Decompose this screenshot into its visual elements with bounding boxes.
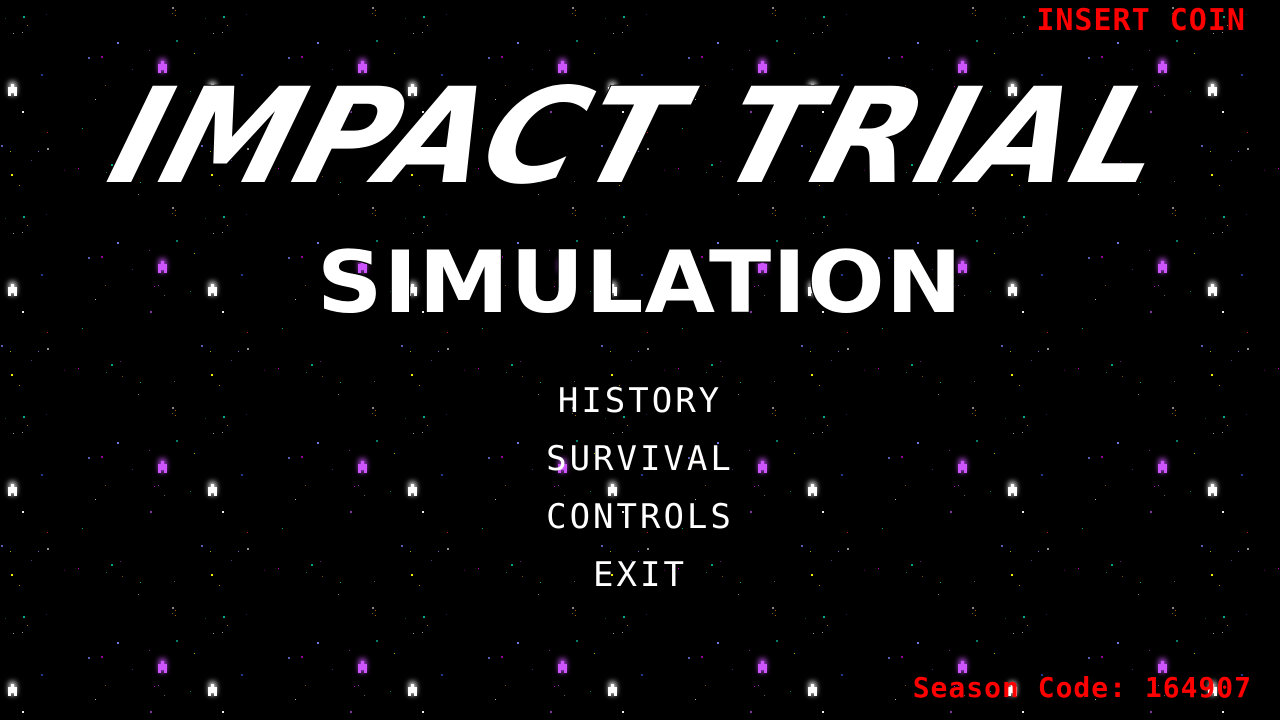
star-pixel bbox=[811, 684, 814, 693]
star-pixel bbox=[149, 650, 150, 651]
star-pixel bbox=[13, 233, 14, 234]
star-pixel bbox=[776, 40, 778, 42]
star-pixel bbox=[576, 640, 578, 642]
star-pixel bbox=[311, 364, 313, 366]
star-pixel bbox=[95, 699, 96, 700]
star-pixel bbox=[847, 348, 849, 350]
star-pixel bbox=[1031, 360, 1032, 361]
star-pixel bbox=[572, 13, 573, 14]
star-pixel bbox=[27, 225, 28, 226]
star-pixel bbox=[231, 360, 232, 361]
star-pixel bbox=[175, 15, 176, 16]
star-pixel bbox=[805, 18, 806, 19]
star-pixel bbox=[975, 615, 976, 616]
star-pixel bbox=[1013, 233, 1014, 234]
star-pixel bbox=[372, 613, 373, 614]
star-pixel bbox=[361, 661, 364, 670]
star-pixel bbox=[88, 657, 90, 659]
star-pixel bbox=[705, 685, 706, 686]
star-pixel bbox=[775, 615, 776, 616]
star-pixel bbox=[164, 695, 165, 696]
star-pixel bbox=[175, 10, 176, 11]
star-pixel bbox=[413, 33, 414, 34]
star-pixel bbox=[622, 32, 623, 33]
star-pixel bbox=[1227, 625, 1228, 626]
star-pixel bbox=[222, 32, 223, 33]
sub-title: SIMULATION bbox=[0, 236, 1280, 336]
star-pixel bbox=[22, 632, 23, 633]
star-pixel bbox=[1132, 669, 1133, 670]
star-pixel bbox=[1023, 616, 1025, 618]
season-code-label: Season Code: 164907 bbox=[913, 672, 1252, 704]
star-pixel bbox=[647, 348, 649, 350]
star-pixel bbox=[972, 7, 974, 9]
star-pixel bbox=[175, 615, 176, 616]
star-pixel bbox=[754, 686, 755, 687]
star-pixel bbox=[561, 661, 564, 670]
star-pixel bbox=[623, 16, 625, 18]
star-pixel bbox=[317, 642, 319, 644]
star-pixel bbox=[227, 25, 228, 26]
star-pixel bbox=[349, 650, 350, 651]
star-pixel bbox=[1022, 632, 1023, 633]
star-pixel bbox=[776, 640, 778, 642]
star-pixel bbox=[901, 56, 903, 58]
star-pixel bbox=[238, 351, 239, 352]
star-pixel bbox=[975, 10, 976, 11]
star-pixel bbox=[775, 610, 776, 611]
star-pixel bbox=[605, 18, 606, 19]
star-pixel bbox=[638, 351, 639, 352]
star-pixel bbox=[332, 669, 333, 670]
star-pixel bbox=[375, 610, 376, 611]
star-pixel bbox=[1222, 232, 1223, 233]
star-pixel bbox=[88, 57, 90, 59]
star-pixel bbox=[622, 632, 623, 633]
star-pixel bbox=[22, 711, 24, 713]
star-pixel bbox=[38, 351, 39, 352]
star-pixel bbox=[223, 616, 225, 618]
star-pixel bbox=[749, 50, 750, 51]
star-pixel bbox=[627, 225, 628, 226]
star-pixel bbox=[549, 650, 550, 651]
star-pixel bbox=[501, 656, 503, 658]
star-pixel bbox=[305, 685, 306, 686]
star-pixel bbox=[375, 615, 376, 616]
star-pixel bbox=[172, 7, 174, 9]
star-pixel bbox=[1022, 232, 1023, 233]
star-pixel bbox=[1010, 351, 1011, 352]
star-pixel bbox=[427, 25, 428, 26]
star-pixel bbox=[422, 32, 423, 33]
star-pixel bbox=[1172, 613, 1173, 614]
star-pixel bbox=[427, 625, 428, 626]
star-pixel bbox=[46, 614, 47, 615]
star-pixel bbox=[1172, 607, 1174, 609]
star-pixel bbox=[13, 33, 14, 34]
star-pixel bbox=[590, 691, 591, 692]
star-pixel bbox=[27, 625, 28, 626]
star-pixel bbox=[172, 13, 173, 14]
star-pixel bbox=[194, 53, 195, 54]
star-pixel bbox=[688, 657, 690, 659]
star-pixel bbox=[1001, 345, 1003, 347]
star-pixel bbox=[222, 711, 224, 713]
star-pixel bbox=[790, 691, 791, 692]
star-pixel bbox=[511, 364, 513, 366]
star-pixel bbox=[22, 232, 23, 233]
star-pixel bbox=[13, 633, 14, 634]
star-pixel bbox=[376, 640, 378, 642]
star-pixel bbox=[1246, 614, 1247, 615]
star-pixel bbox=[423, 616, 425, 618]
star-pixel bbox=[994, 53, 995, 54]
star-pixel bbox=[772, 7, 774, 9]
star-pixel bbox=[5, 18, 6, 19]
star-pixel bbox=[901, 656, 903, 658]
star-pixel bbox=[549, 50, 550, 51]
star-pixel bbox=[520, 361, 521, 362]
star-pixel bbox=[41, 674, 43, 676]
star-pixel bbox=[822, 32, 823, 33]
star-pixel bbox=[172, 607, 174, 609]
star-pixel bbox=[720, 361, 721, 362]
star-pixel bbox=[223, 16, 225, 18]
star-pixel bbox=[572, 607, 574, 609]
star-pixel bbox=[623, 616, 625, 618]
star-pixel bbox=[823, 16, 825, 18]
star-pixel bbox=[717, 42, 719, 44]
star-pixel bbox=[550, 711, 552, 713]
star-pixel bbox=[1013, 633, 1014, 634]
game-title-screen: INSERT COIN IMPACT TRIAL SIMULATION HIST… bbox=[0, 0, 1280, 720]
star-pixel bbox=[176, 640, 178, 642]
star-pixel bbox=[372, 7, 374, 9]
star-pixel bbox=[427, 225, 428, 226]
star-pixel bbox=[813, 633, 814, 634]
star-pixel bbox=[101, 56, 103, 58]
star-pixel bbox=[410, 351, 411, 352]
star-pixel bbox=[390, 691, 391, 692]
star-pixel bbox=[149, 50, 150, 51]
star-pixel bbox=[1246, 14, 1247, 15]
star-pixel bbox=[1176, 40, 1178, 42]
star-pixel bbox=[917, 642, 919, 644]
star-pixel bbox=[575, 10, 576, 11]
star-pixel bbox=[822, 711, 824, 713]
star-pixel bbox=[564, 695, 565, 696]
star-pixel bbox=[247, 348, 249, 350]
star-pixel bbox=[422, 632, 423, 633]
star-pixel bbox=[532, 669, 533, 670]
star-pixel bbox=[1005, 18, 1006, 19]
star-pixel bbox=[278, 368, 279, 369]
star-pixel bbox=[717, 642, 719, 644]
star-pixel bbox=[211, 684, 214, 693]
star-pixel bbox=[554, 686, 555, 687]
star-pixel bbox=[823, 616, 825, 618]
star-pixel bbox=[1175, 615, 1176, 616]
star-pixel bbox=[205, 618, 206, 619]
star-pixel bbox=[375, 10, 376, 11]
star-pixel bbox=[488, 657, 490, 659]
star-pixel bbox=[1231, 360, 1232, 361]
star-pixel bbox=[972, 613, 973, 614]
star-pixel bbox=[627, 25, 628, 26]
star-pixel bbox=[349, 50, 350, 51]
star-pixel bbox=[1238, 351, 1239, 352]
star-pixel bbox=[517, 642, 519, 644]
star-pixel bbox=[478, 368, 479, 369]
star-pixel bbox=[46, 14, 47, 15]
star-pixel bbox=[1117, 642, 1119, 644]
star-pixel bbox=[405, 18, 406, 19]
menu-item-exit[interactable]: EXIT bbox=[0, 546, 1280, 604]
star-pixel bbox=[646, 14, 647, 15]
star-pixel bbox=[976, 40, 978, 42]
star-pixel bbox=[441, 674, 443, 676]
star-pixel bbox=[794, 653, 795, 654]
star-pixel bbox=[246, 614, 247, 615]
star-pixel bbox=[1247, 348, 1249, 350]
star-pixel bbox=[394, 53, 395, 54]
star-pixel bbox=[917, 42, 919, 44]
star-pixel bbox=[1013, 33, 1014, 34]
star-pixel bbox=[1149, 650, 1150, 651]
star-pixel bbox=[501, 56, 503, 58]
star-pixel bbox=[1046, 614, 1047, 615]
star-pixel bbox=[701, 56, 703, 58]
star-pixel bbox=[1117, 42, 1119, 44]
star-pixel bbox=[1149, 50, 1150, 51]
star-pixel bbox=[1111, 364, 1113, 366]
star-pixel bbox=[358, 685, 359, 686]
star-pixel bbox=[423, 16, 425, 18]
star-pixel bbox=[1064, 370, 1065, 371]
star-pixel bbox=[949, 650, 950, 651]
star-pixel bbox=[601, 345, 603, 347]
menu-item-history[interactable]: HISTORY bbox=[0, 372, 1280, 430]
star-pixel bbox=[222, 632, 223, 633]
star-pixel bbox=[213, 233, 214, 234]
star-pixel bbox=[1027, 25, 1028, 26]
star-pixel bbox=[1213, 233, 1214, 234]
star-pixel bbox=[911, 364, 913, 366]
star-pixel bbox=[1194, 53, 1195, 54]
star-pixel bbox=[411, 684, 414, 693]
star-pixel bbox=[446, 14, 447, 15]
star-pixel bbox=[1088, 657, 1090, 659]
star-pixel bbox=[295, 699, 296, 700]
star-pixel bbox=[831, 360, 832, 361]
star-pixel bbox=[194, 653, 195, 654]
star-pixel bbox=[801, 345, 803, 347]
star-pixel bbox=[105, 685, 106, 686]
star-pixel bbox=[158, 685, 159, 686]
star-pixel bbox=[422, 711, 424, 713]
star-pixel bbox=[405, 618, 406, 619]
star-pixel bbox=[827, 25, 828, 26]
star-pixel bbox=[161, 661, 164, 670]
star-pixel bbox=[1161, 661, 1164, 670]
star-pixel bbox=[154, 686, 155, 687]
star-pixel bbox=[749, 650, 750, 651]
star-pixel bbox=[505, 685, 506, 686]
star-pixel bbox=[1222, 711, 1224, 713]
star-pixel bbox=[372, 607, 374, 609]
star-pixel bbox=[301, 56, 303, 58]
star-pixel bbox=[572, 613, 573, 614]
star-pixel bbox=[605, 618, 606, 619]
star-pixel bbox=[920, 361, 921, 362]
star-pixel bbox=[10, 351, 11, 352]
star-pixel bbox=[701, 656, 703, 658]
star-pixel bbox=[401, 345, 403, 347]
star-pixel bbox=[678, 368, 679, 369]
star-pixel bbox=[664, 370, 665, 371]
star-pixel bbox=[1078, 368, 1079, 369]
star-pixel bbox=[394, 653, 395, 654]
star-pixel bbox=[11, 684, 14, 693]
star-pixel bbox=[320, 361, 321, 362]
star-pixel bbox=[575, 15, 576, 16]
star-pixel bbox=[241, 674, 243, 676]
star-pixel bbox=[22, 32, 23, 33]
star-pixel bbox=[101, 656, 103, 658]
star-pixel bbox=[622, 711, 624, 713]
star-pixel bbox=[288, 657, 290, 659]
star-pixel bbox=[711, 364, 713, 366]
star-pixel bbox=[1210, 351, 1211, 352]
star-pixel bbox=[827, 625, 828, 626]
star-pixel bbox=[213, 633, 214, 634]
star-pixel bbox=[864, 370, 865, 371]
star-pixel bbox=[1101, 656, 1103, 658]
menu-item-controls[interactable]: CONTROLS bbox=[0, 488, 1280, 546]
star-pixel bbox=[1027, 225, 1028, 226]
star-pixel bbox=[354, 686, 355, 687]
star-pixel bbox=[794, 53, 795, 54]
star-pixel bbox=[949, 50, 950, 51]
star-pixel bbox=[572, 7, 574, 9]
svg-text:IMPACT TRIAL: IMPACT TRIAL bbox=[95, 59, 1186, 213]
star-pixel bbox=[1213, 633, 1214, 634]
star-pixel bbox=[1, 345, 3, 347]
star-pixel bbox=[438, 351, 439, 352]
star-pixel bbox=[758, 685, 759, 686]
star-pixel bbox=[150, 711, 152, 713]
star-pixel bbox=[372, 13, 373, 14]
star-pixel bbox=[838, 351, 839, 352]
star-pixel bbox=[222, 232, 223, 233]
star-pixel bbox=[27, 25, 28, 26]
star-pixel bbox=[1038, 351, 1039, 352]
star-pixel bbox=[23, 616, 25, 618]
star-pixel bbox=[264, 370, 265, 371]
star-pixel bbox=[646, 614, 647, 615]
star-pixel bbox=[764, 695, 765, 696]
star-pixel bbox=[1222, 632, 1223, 633]
star-pixel bbox=[301, 656, 303, 658]
star-pixel bbox=[976, 640, 978, 642]
star-pixel bbox=[1176, 640, 1178, 642]
star-pixel bbox=[994, 653, 995, 654]
star-pixel bbox=[961, 661, 964, 670]
star-pixel bbox=[950, 711, 952, 713]
star-pixel bbox=[822, 632, 823, 633]
star-pixel bbox=[1278, 368, 1279, 369]
star-pixel bbox=[772, 613, 773, 614]
star-pixel bbox=[350, 711, 352, 713]
star-pixel bbox=[613, 633, 614, 634]
star-pixel bbox=[78, 368, 79, 369]
star-pixel bbox=[246, 14, 247, 15]
star-pixel bbox=[495, 699, 496, 700]
star-pixel bbox=[575, 615, 576, 616]
star-pixel bbox=[1201, 345, 1203, 347]
star-pixel bbox=[431, 360, 432, 361]
star-pixel bbox=[878, 368, 879, 369]
star-pixel bbox=[772, 13, 773, 14]
star-pixel bbox=[117, 42, 119, 44]
star-pixel bbox=[813, 33, 814, 34]
star-pixel bbox=[695, 699, 696, 700]
star-pixel bbox=[227, 625, 228, 626]
star-pixel bbox=[611, 684, 614, 693]
star-pixel bbox=[1005, 618, 1006, 619]
star-pixel bbox=[5, 618, 6, 619]
star-pixel bbox=[447, 348, 449, 350]
star-pixel bbox=[375, 15, 376, 16]
star-pixel bbox=[594, 653, 595, 654]
star-pixel bbox=[23, 16, 25, 18]
star-pixel bbox=[576, 40, 578, 42]
star-pixel bbox=[47, 348, 49, 350]
star-pixel bbox=[846, 14, 847, 15]
star-pixel bbox=[213, 33, 214, 34]
star-pixel bbox=[464, 370, 465, 371]
star-pixel bbox=[172, 613, 173, 614]
main-title: IMPACT TRIAL bbox=[0, 62, 1280, 222]
star-pixel bbox=[517, 42, 519, 44]
star-pixel bbox=[175, 610, 176, 611]
star-pixel bbox=[558, 685, 559, 686]
star-pixel bbox=[201, 345, 203, 347]
star-pixel bbox=[1027, 625, 1028, 626]
star-pixel bbox=[895, 699, 896, 700]
star-pixel bbox=[190, 691, 191, 692]
star-pixel bbox=[1047, 348, 1049, 350]
star-pixel bbox=[932, 669, 933, 670]
star-pixel bbox=[772, 607, 774, 609]
star-pixel bbox=[227, 225, 228, 226]
star-pixel bbox=[972, 607, 974, 609]
star-pixel bbox=[1022, 711, 1024, 713]
insert-coin-prompt: INSERT COIN bbox=[1036, 4, 1246, 38]
star-pixel bbox=[841, 674, 843, 676]
star-pixel bbox=[364, 695, 365, 696]
star-pixel bbox=[117, 642, 119, 644]
star-pixel bbox=[1175, 610, 1176, 611]
star-pixel bbox=[627, 625, 628, 626]
star-pixel bbox=[905, 685, 906, 686]
star-pixel bbox=[641, 674, 643, 676]
star-pixel bbox=[132, 669, 133, 670]
star-pixel bbox=[846, 614, 847, 615]
menu-item-survival[interactable]: SURVIVAL bbox=[0, 430, 1280, 488]
star-pixel bbox=[376, 40, 378, 42]
star-pixel bbox=[1023, 16, 1025, 18]
